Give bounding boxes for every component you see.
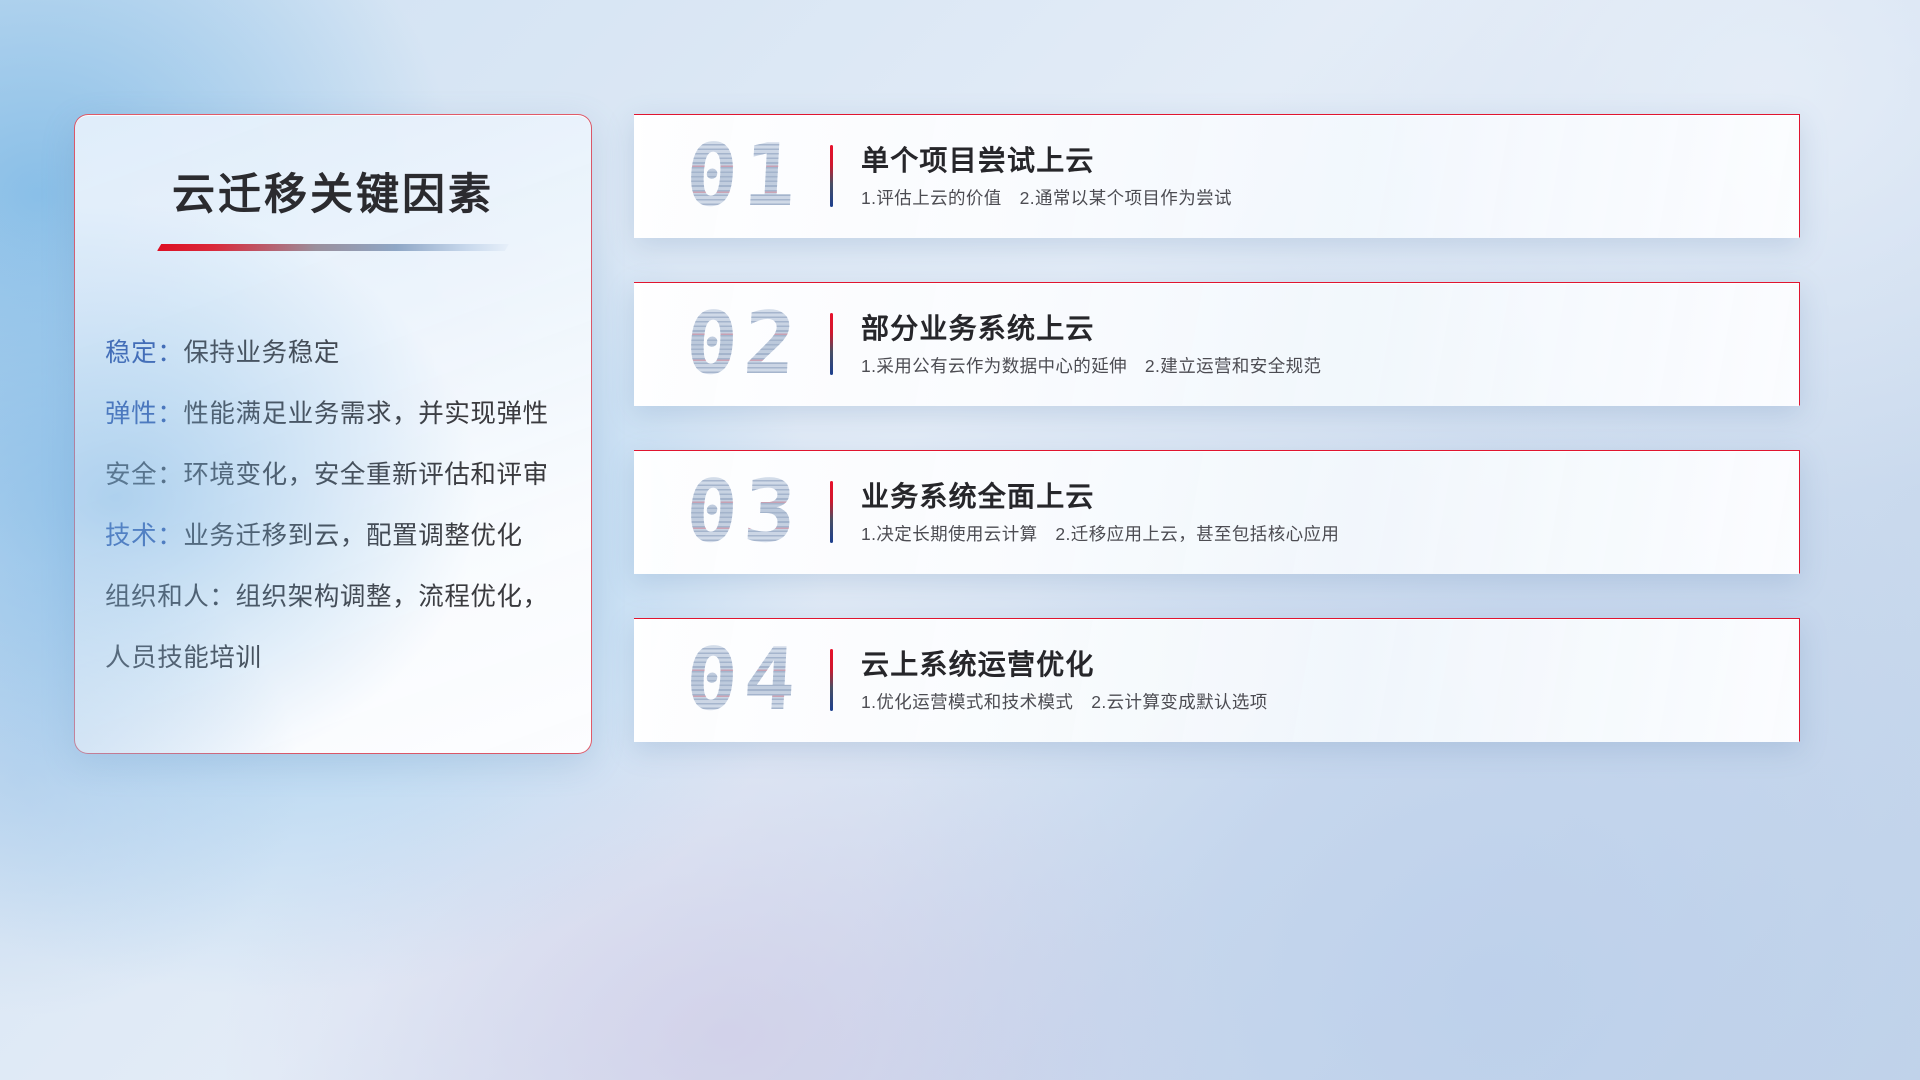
factor-list: 稳定：保持业务稳定 弹性：性能满足业务需求，并实现弹性 安全：环境变化，安全重新… [105, 323, 591, 689]
list-item: 人员技能培训 [105, 628, 591, 689]
step-text-block: 云上系统运营优化 1.优化运营模式和技术模式 2.云计算变成默认选项 [861, 647, 1799, 714]
step-description: 1.决定长期使用云计算 2.迁移应用上云，甚至包括核心应用 [861, 523, 1773, 546]
list-item: 弹性：性能满足业务需求，并实现弹性 [105, 384, 591, 445]
step-divider-bar [830, 481, 833, 543]
list-item: 稳定：保持业务稳定 [105, 323, 591, 384]
step-title: 单个项目尝试上云 [861, 143, 1773, 178]
step-description: 1.评估上云的价值 2.通常以某个项目作为尝试 [861, 187, 1773, 210]
step-number-02: 02 02 [634, 283, 830, 405]
step-number-glyph: 04 [684, 637, 804, 723]
title-underline-rule [157, 244, 509, 251]
step-description: 1.采用公有云作为数据中心的延伸 2.建立运营和安全规范 [861, 355, 1773, 378]
step-divider-bar [830, 145, 833, 207]
step-card-01[interactable]: 01 01 单个项目尝试上云 1.评估上云的价值 2.通常以某个项目作为尝试 [634, 114, 1800, 238]
factor-body: 人员技能培训 [105, 644, 262, 672]
page-title: 云迁移关键因素 [75, 160, 591, 222]
step-divider-bar [830, 649, 833, 711]
slide-canvas: 云迁移关键因素 稳定：保持业务稳定 弹性：性能满足业务需求，并实现弹性 安全：环… [0, 0, 1920, 1080]
step-title: 部分业务系统上云 [861, 311, 1773, 346]
step-number-01: 01 01 [634, 115, 830, 237]
step-title: 云上系统运营优化 [861, 647, 1773, 682]
list-item: 安全：环境变化，安全重新评估和评审 [105, 445, 591, 506]
step-description: 1.优化运营模式和技术模式 2.云计算变成默认选项 [861, 691, 1773, 714]
factor-label: 组织和人： [105, 583, 236, 611]
factor-body: 性能满足业务需求，并实现弹性 [183, 400, 548, 428]
step-number-glyph: 01 [684, 133, 804, 219]
key-factors-panel: 云迁移关键因素 稳定：保持业务稳定 弹性：性能满足业务需求，并实现弹性 安全：环… [74, 114, 592, 754]
step-card-03[interactable]: 03 03 业务系统全面上云 1.决定长期使用云计算 2.迁移应用上云，甚至包括… [634, 450, 1800, 574]
step-text-block: 部分业务系统上云 1.采用公有云作为数据中心的延伸 2.建立运营和安全规范 [861, 311, 1799, 378]
step-number-03: 03 03 [634, 451, 830, 573]
step-text-block: 单个项目尝试上云 1.评估上云的价值 2.通常以某个项目作为尝试 [861, 143, 1799, 210]
step-title: 业务系统全面上云 [861, 479, 1773, 514]
step-divider-bar [830, 313, 833, 375]
factor-label: 弹性： [105, 400, 183, 428]
step-number-04: 04 04 [634, 619, 830, 741]
factor-body: 环境变化，安全重新评估和评审 [183, 461, 548, 489]
step-number-glyph: 02 [684, 301, 804, 387]
factor-label: 稳定： [105, 339, 183, 367]
migration-steps-list: 01 01 单个项目尝试上云 1.评估上云的价值 2.通常以某个项目作为尝试 0… [634, 114, 1800, 786]
factor-label: 技术： [105, 522, 183, 550]
step-number-glyph: 03 [684, 469, 804, 555]
factor-body: 业务迁移到云，配置调整优化 [183, 522, 522, 550]
step-card-02[interactable]: 02 02 部分业务系统上云 1.采用公有云作为数据中心的延伸 2.建立运营和安… [634, 282, 1800, 406]
list-item: 组织和人：组织架构调整，流程优化， [105, 567, 591, 628]
step-card-04[interactable]: 04 04 云上系统运营优化 1.优化运营模式和技术模式 2.云计算变成默认选项 [634, 618, 1800, 742]
factor-label: 安全： [105, 461, 183, 489]
list-item: 技术：业务迁移到云，配置调整优化 [105, 506, 591, 567]
factor-body: 保持业务稳定 [183, 339, 340, 367]
factor-body: 组织架构调整，流程优化， [236, 583, 549, 611]
step-text-block: 业务系统全面上云 1.决定长期使用云计算 2.迁移应用上云，甚至包括核心应用 [861, 479, 1799, 546]
